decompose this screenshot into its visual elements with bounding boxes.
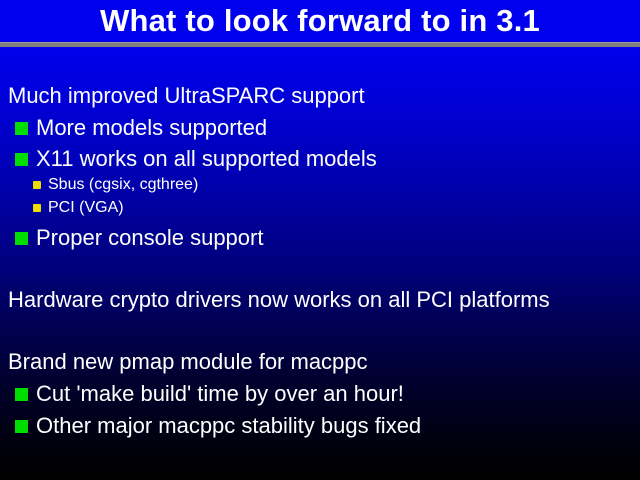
presentation-slide: What to look forward to in 3.1 Much impr… [0, 0, 640, 480]
bullet-item: Hardware crypto drivers now works on all… [8, 287, 550, 313]
bullet-text: Much improved UltraSPARC support [8, 83, 365, 109]
slide-content: Much improved UltraSPARC support More mo… [0, 47, 640, 480]
bullet-text: X11 works on all supported models [36, 146, 377, 172]
slide-title: What to look forward to in 3.1 [0, 2, 640, 40]
small-square-bullet-icon [33, 204, 41, 212]
bullet-text: Sbus (cgsix, cgthree) [48, 175, 198, 195]
square-bullet-icon [15, 153, 28, 166]
square-bullet-icon [15, 122, 28, 135]
bullet-item: Sbus (cgsix, cgthree) [33, 175, 198, 195]
small-square-bullet-icon [33, 181, 41, 189]
bullet-item: X11 works on all supported models [15, 146, 377, 172]
bullet-text: Cut 'make build' time by over an hour! [36, 381, 404, 407]
square-bullet-icon [15, 420, 28, 433]
bullet-text: Proper console support [36, 225, 263, 251]
bullet-item: Brand new pmap module for macppc [8, 349, 368, 375]
bullet-item: Cut 'make build' time by over an hour! [15, 381, 404, 407]
bullet-item: Much improved UltraSPARC support [8, 83, 365, 109]
bullet-text: Other major macppc stability bugs fixed [36, 413, 421, 439]
square-bullet-icon [15, 232, 28, 245]
bullet-text: More models supported [36, 115, 267, 141]
bullet-text: PCI (VGA) [48, 198, 124, 218]
bullet-item: PCI (VGA) [33, 198, 124, 218]
bullet-text: Hardware crypto drivers now works on all… [8, 287, 550, 313]
bullet-text: Brand new pmap module for macppc [8, 349, 368, 375]
bullet-item: Other major macppc stability bugs fixed [15, 413, 421, 439]
square-bullet-icon [15, 388, 28, 401]
bullet-item: Proper console support [15, 225, 263, 251]
bullet-item: More models supported [15, 115, 267, 141]
